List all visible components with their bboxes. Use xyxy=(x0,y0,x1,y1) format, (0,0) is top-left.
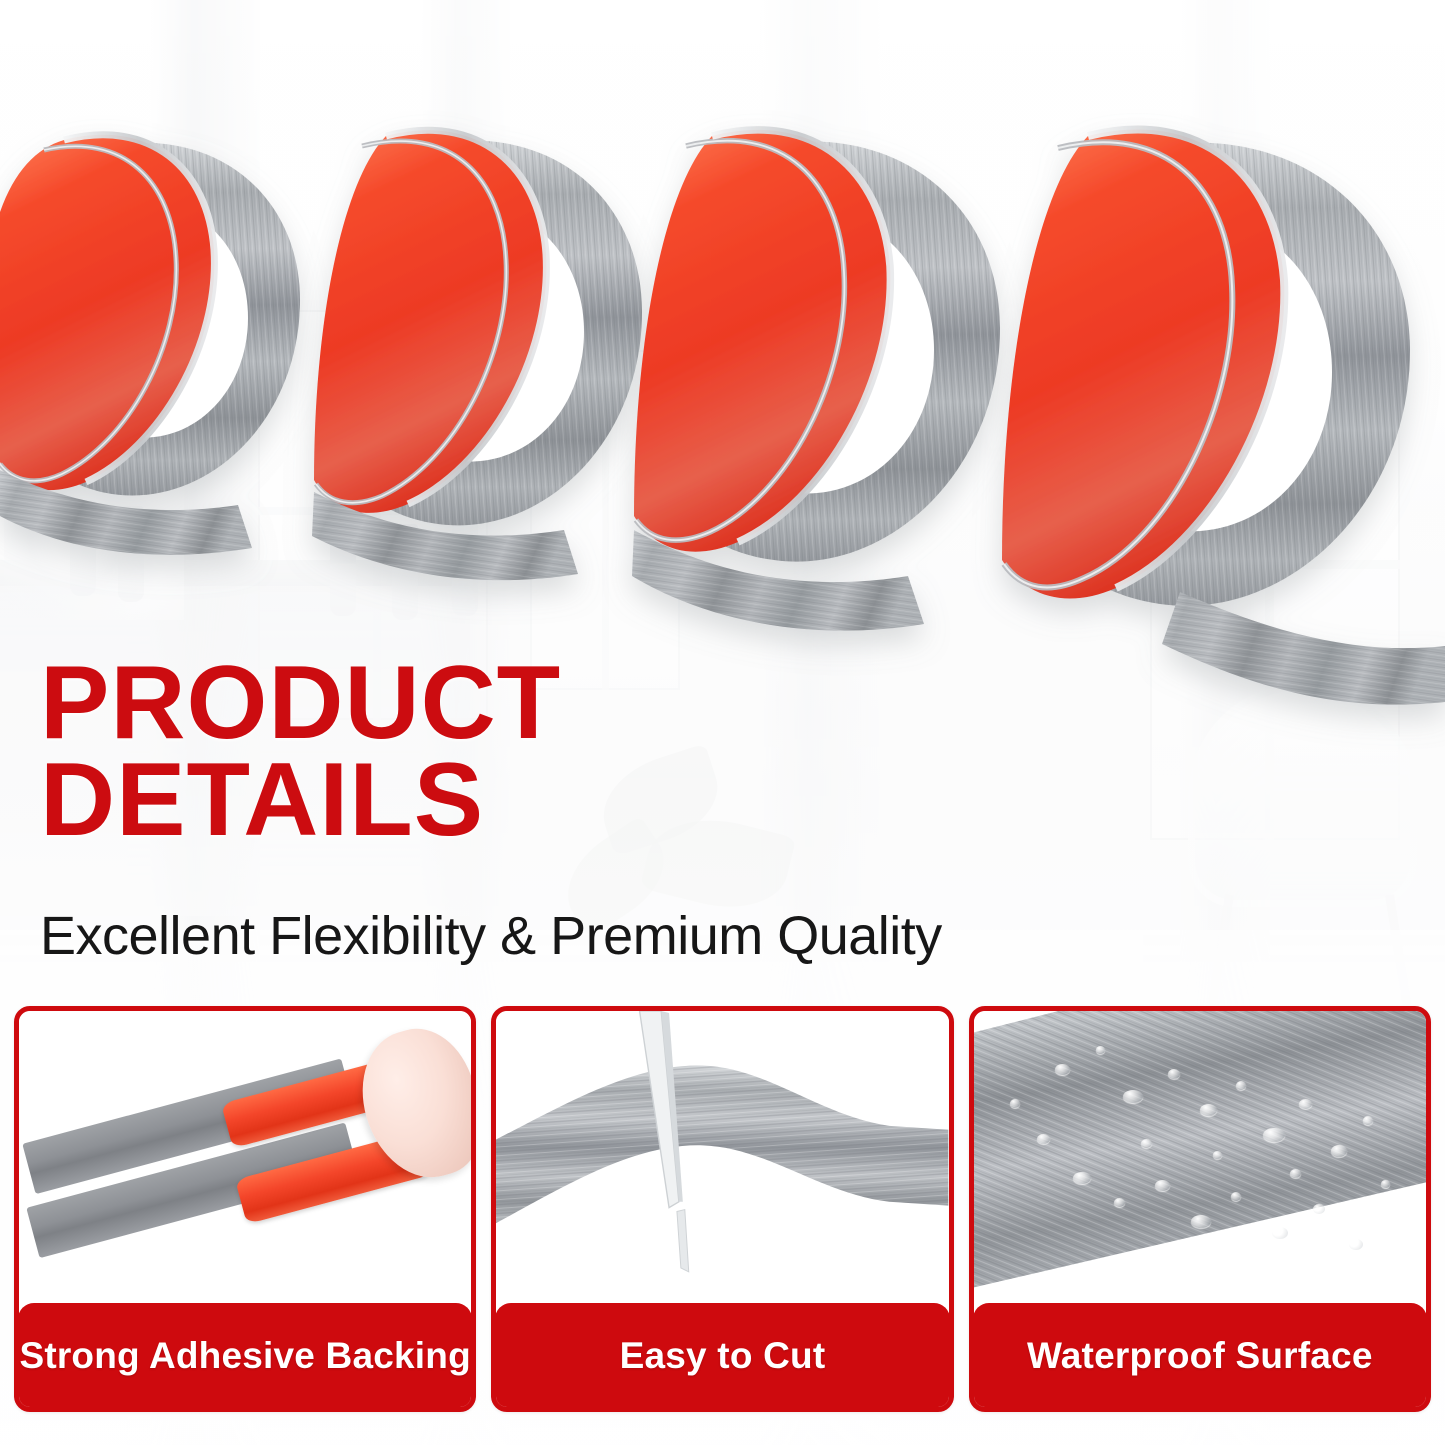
page-title: PRODUCT DETAILS xyxy=(40,655,800,848)
feature-caption-waterproof: Waterproof Surface xyxy=(973,1303,1427,1408)
page-title-line2: DETAILS xyxy=(40,752,800,849)
blade-cut-icon xyxy=(496,1011,948,1303)
water-droplets-icon xyxy=(974,1011,1426,1303)
page-subtitle: Excellent Flexibility & Premium Quality xyxy=(40,905,942,967)
feature-panel-waterproof[interactable]: Waterproof Surface xyxy=(969,1006,1431,1412)
feature-image-waterproof xyxy=(974,1011,1426,1303)
feature-caption-adhesive: Strong Adhesive Backing xyxy=(18,1303,472,1408)
feature-panel-adhesive[interactable]: Strong Adhesive Backing xyxy=(14,1006,476,1412)
peel-liner-icon xyxy=(19,1011,471,1303)
feature-image-adhesive xyxy=(19,1011,471,1303)
feature-caption-text: Strong Adhesive Backing xyxy=(19,1335,470,1377)
feature-caption-text: Easy to Cut xyxy=(620,1335,826,1377)
feature-panel-cut[interactable]: Easy to Cut xyxy=(491,1006,953,1412)
feature-panel-row: Strong Adhesive Backing xyxy=(14,1006,1431,1412)
feature-caption-cut: Easy to Cut xyxy=(495,1303,949,1408)
product-detail-image: PRODUCT DETAILS Excellent Flexibility & … xyxy=(0,0,1445,1445)
feature-image-cut xyxy=(496,1011,948,1303)
feature-caption-text: Waterproof Surface xyxy=(1027,1335,1373,1377)
